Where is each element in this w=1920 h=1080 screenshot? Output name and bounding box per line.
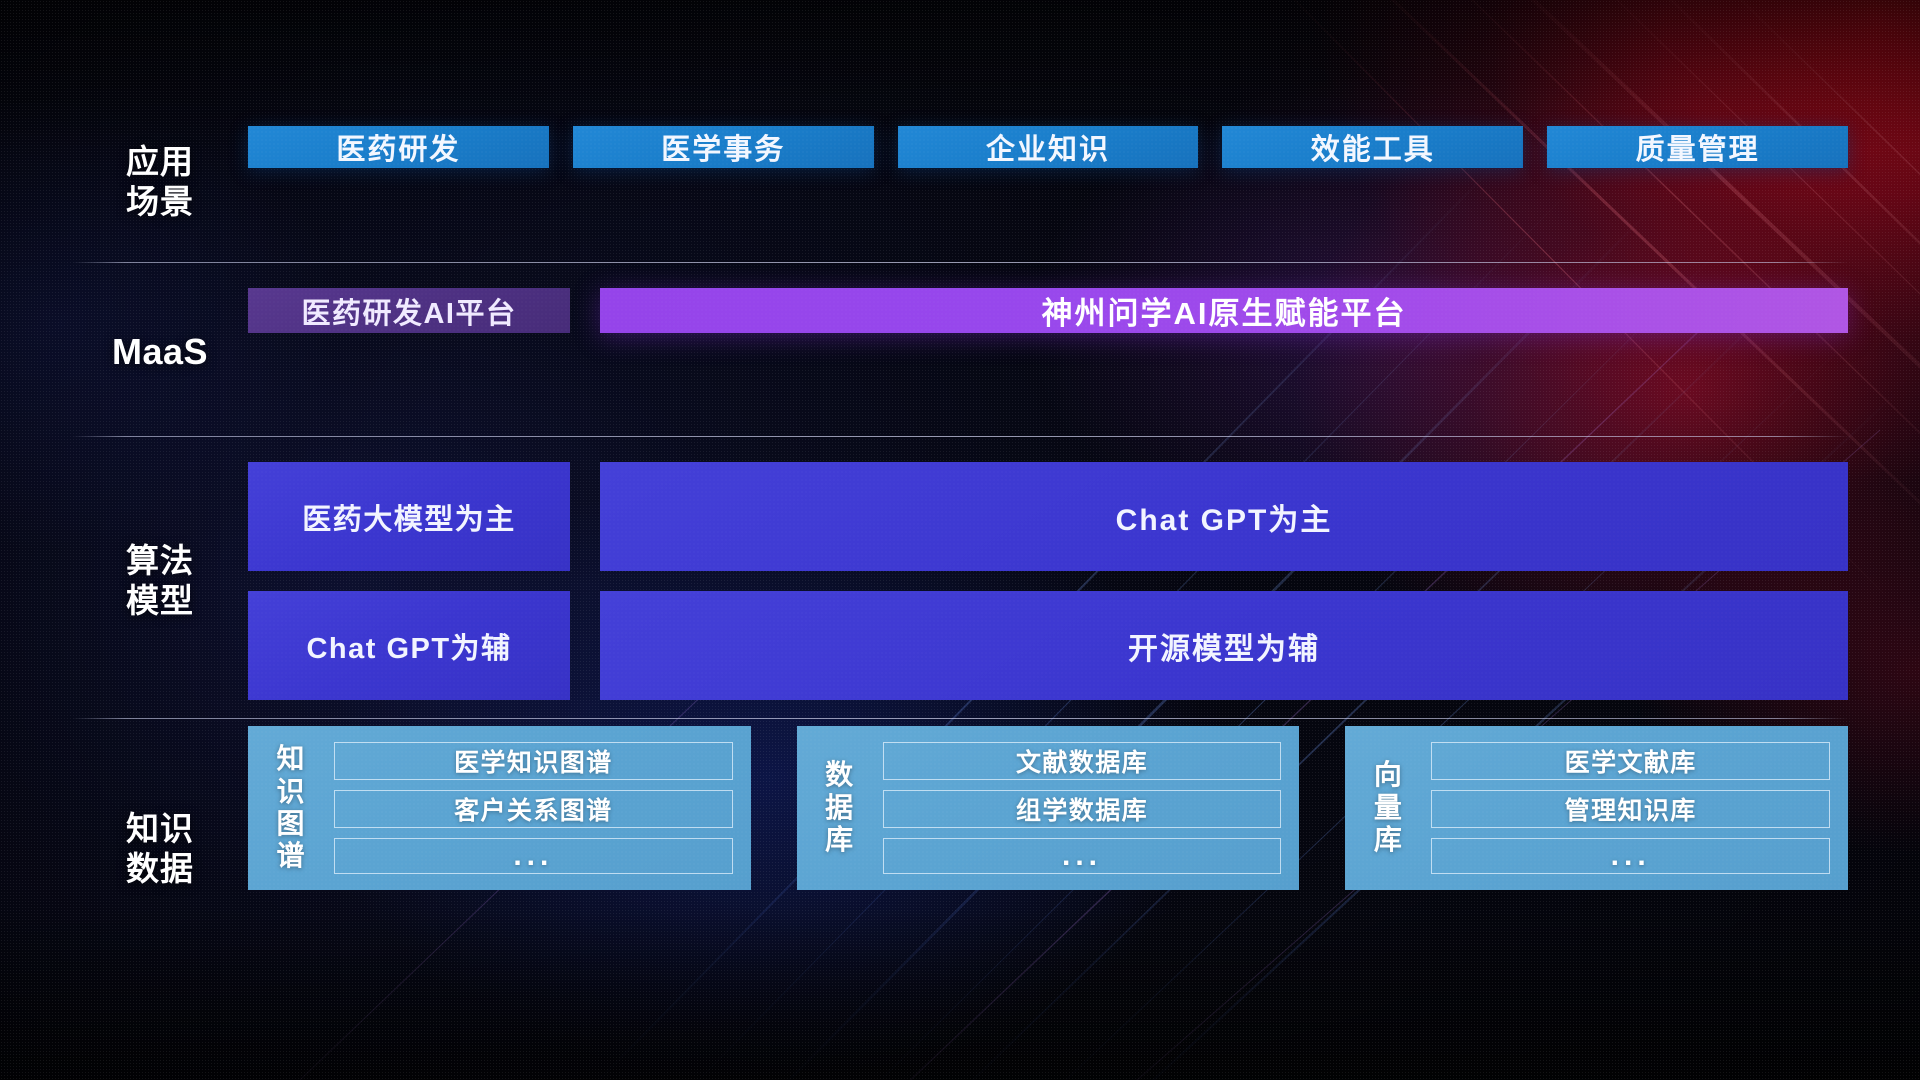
knowledge-panel-title-vector-store: 向 量 库: [1359, 742, 1417, 874]
knowledge-items-database: 文献数据库 组学数据库 ...: [883, 742, 1282, 874]
row-maas: MaaS 医药研发AI平台 神州问学AI原生赋能平台: [72, 288, 1848, 416]
title-char: 数: [825, 759, 854, 791]
row-body-application-scenarios: 医药研发 医学事务 企业知识 效能工具 质量管理: [248, 126, 1848, 238]
maas-box-drug-rd-ai-platform[interactable]: 医药研发AI平台: [248, 288, 570, 333]
row-body-knowledge-data: 知 识 图 谱 医学知识图谱 客户关系图谱 ...: [248, 726, 1848, 972]
knowledge-item-more-vector-store[interactable]: ...: [1431, 838, 1830, 874]
algo-box-pharma-llm-primary[interactable]: 医药大模型为主: [248, 462, 570, 571]
row-body-maas: 医药研发AI平台 神州问学AI原生赋能平台: [248, 288, 1848, 416]
row-label-knowledge-data: 知识 数据: [72, 726, 248, 972]
divider-algorithm-knowledge: [72, 718, 1848, 719]
title-char: 知: [276, 743, 305, 775]
knowledge-item-medical-knowledge-graph[interactable]: 医学知识图谱: [334, 742, 733, 780]
title-char: 量: [1374, 792, 1403, 824]
title-char: 库: [1374, 824, 1403, 856]
row-label-line: 知识: [126, 809, 194, 849]
algorithm-line-secondary: Chat GPT为辅 开源模型为辅: [248, 591, 1848, 700]
knowledge-item-more-database[interactable]: ...: [883, 838, 1282, 874]
knowledge-item-customer-relation-graph[interactable]: 客户关系图谱: [334, 790, 733, 828]
row-label-algorithm-models: 算法 模型: [72, 462, 248, 700]
row-application-scenarios: 应用 场景 医药研发 医学事务 企业知识 效能工具 质量管理: [72, 126, 1848, 238]
knowledge-items-knowledge-graph: 医学知识图谱 客户关系图谱 ...: [334, 742, 733, 874]
algorithm-line-primary: 医药大模型为主 Chat GPT为主: [248, 462, 1848, 571]
algo-box-chatgpt-primary[interactable]: Chat GPT为主: [600, 462, 1848, 571]
knowledge-panel-vector-store[interactable]: 向 量 库 医学文献库 管理知识库 ...: [1345, 726, 1848, 890]
row-label-maas: MaaS: [72, 288, 248, 416]
maas-box-shenzhou-wenxue-platform[interactable]: 神州问学AI原生赋能平台: [600, 288, 1848, 333]
knowledge-strip: 知 识 图 谱 医学知识图谱 客户关系图谱 ...: [248, 726, 1848, 890]
title-char: 谱: [276, 840, 305, 872]
title-char: 向: [1374, 759, 1403, 791]
scenario-box-quality-management[interactable]: 质量管理: [1547, 126, 1848, 168]
knowledge-panel-title-knowledge-graph: 知 识 图 谱: [262, 742, 320, 874]
row-algorithm-models: 算法 模型 医药大模型为主 Chat GPT为主 Chat GPT为辅 开源模型…: [72, 462, 1848, 700]
row-body-algorithm-models: 医药大模型为主 Chat GPT为主 Chat GPT为辅 开源模型为辅: [248, 462, 1848, 700]
title-char: 库: [825, 824, 854, 856]
row-label-application-scenarios: 应用 场景: [72, 126, 248, 238]
row-label-line: 算法: [126, 541, 194, 581]
row-label-line: 数据: [126, 849, 194, 889]
knowledge-panel-database[interactable]: 数 据 库 文献数据库 组学数据库 ...: [797, 726, 1300, 890]
knowledge-item-more-knowledge-graph[interactable]: ...: [334, 838, 733, 874]
title-char: 图: [276, 808, 305, 840]
knowledge-item-management-knowledge-store[interactable]: 管理知识库: [1431, 790, 1830, 828]
title-char: 识: [276, 776, 305, 808]
knowledge-panel-knowledge-graph[interactable]: 知 识 图 谱 医学知识图谱 客户关系图谱 ...: [248, 726, 751, 890]
scenario-strip: 医药研发 医学事务 企业知识 效能工具 质量管理: [248, 126, 1848, 168]
divider-scenarios-maas: [72, 262, 1848, 263]
row-label-line: MaaS: [112, 330, 208, 374]
knowledge-item-omics-database[interactable]: 组学数据库: [883, 790, 1282, 828]
row-label-line: 模型: [126, 581, 194, 621]
scenario-box-enterprise-knowledge[interactable]: 企业知识: [898, 126, 1199, 168]
slide-canvas: 应用 场景 医药研发 医学事务 企业知识 效能工具 质量管理 MaaS: [0, 0, 1920, 1080]
scenario-box-efficiency-tools[interactable]: 效能工具: [1222, 126, 1523, 168]
architecture-diagram: 应用 场景 医药研发 医学事务 企业知识 效能工具 质量管理 MaaS: [0, 0, 1920, 1080]
scenario-box-medical-affairs[interactable]: 医学事务: [573, 126, 874, 168]
row-knowledge-data: 知识 数据 知 识 图 谱 医学知识图谱 客户: [72, 726, 1848, 972]
knowledge-item-medical-literature-store[interactable]: 医学文献库: [1431, 742, 1830, 780]
row-label-line: 应用: [126, 142, 194, 182]
knowledge-item-literature-database[interactable]: 文献数据库: [883, 742, 1282, 780]
scenario-box-drug-rd[interactable]: 医药研发: [248, 126, 549, 168]
knowledge-panel-title-database: 数 据 库: [811, 742, 869, 874]
knowledge-items-vector-store: 医学文献库 管理知识库 ...: [1431, 742, 1830, 874]
algo-box-chatgpt-secondary[interactable]: Chat GPT为辅: [248, 591, 570, 700]
row-label-line: 场景: [126, 182, 194, 222]
divider-maas-algorithm: [72, 436, 1848, 437]
algo-box-opensource-secondary[interactable]: 开源模型为辅: [600, 591, 1848, 700]
maas-strip: 医药研发AI平台 神州问学AI原生赋能平台: [248, 288, 1848, 333]
title-char: 据: [825, 792, 854, 824]
